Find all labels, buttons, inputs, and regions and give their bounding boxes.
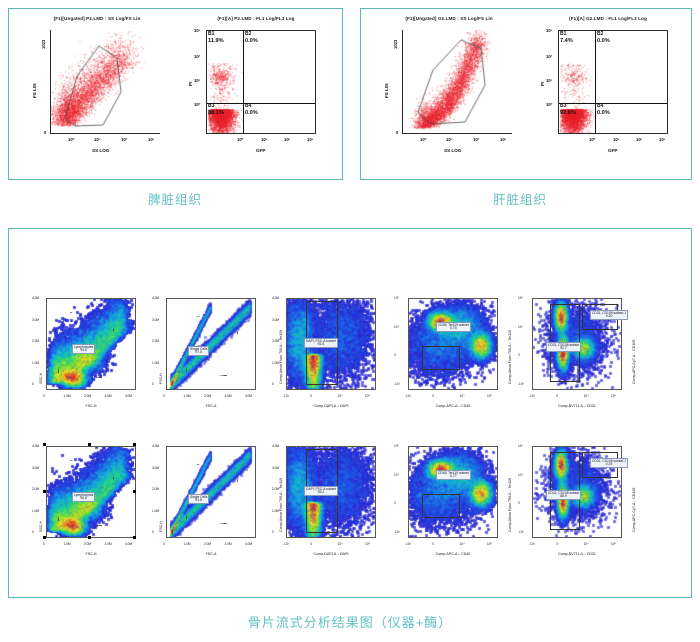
quadrant-name-b3: B3 bbox=[560, 103, 566, 109]
x-tick: 10² bbox=[121, 137, 127, 142]
quadrant-name-b4: B4 bbox=[245, 103, 251, 109]
x-tick: 1.0M bbox=[184, 542, 191, 546]
x-tick: 10² bbox=[636, 137, 642, 142]
density-plot-cd31-row2[interactable]: CD31, CD105 subset-10.25CD31, CD105 subs… bbox=[516, 440, 646, 565]
x-tick: 2.0M bbox=[84, 394, 91, 398]
y-tick: 10³ bbox=[194, 28, 200, 33]
plot-title: (F1)[A] P2.LMD : FL1 Log/FL3 Log bbox=[176, 16, 336, 21]
y-tick: 0 bbox=[32, 530, 34, 534]
x-tick: -10³ bbox=[405, 542, 411, 546]
x-tick: 10¹ bbox=[446, 137, 452, 142]
y-axis-label: SSC-H bbox=[39, 373, 43, 384]
x-tick: -10³ bbox=[283, 394, 289, 398]
x-tick: 10² bbox=[284, 137, 290, 142]
gate-label: Single Cells91.8 bbox=[188, 494, 209, 504]
selection-handle[interactable] bbox=[43, 443, 46, 446]
x-tick: 4.0M bbox=[125, 394, 132, 398]
y-tick: 4.0M bbox=[152, 296, 159, 300]
y-axis-label: FSC-H bbox=[159, 521, 163, 532]
x-tick: 0 bbox=[163, 394, 165, 398]
x-tick: 10⁵ bbox=[611, 394, 616, 398]
selection-handle[interactable] bbox=[43, 490, 46, 493]
x-tick: 2.0M bbox=[84, 542, 91, 546]
y-tick: 1.0M bbox=[32, 509, 39, 513]
plot-title: (F1)[Ungated] G2.LMD : SS Log/FS Lin bbox=[374, 16, 524, 21]
x-tick: -10³ bbox=[529, 542, 535, 546]
y-tick: 10⁵ bbox=[518, 444, 523, 448]
x-tick: 10⁴ bbox=[460, 542, 465, 546]
plot-area bbox=[206, 30, 316, 134]
y-tick: 10⁴ bbox=[518, 473, 523, 477]
x-tick: 10³ bbox=[148, 137, 154, 142]
selection-handle[interactable] bbox=[88, 536, 91, 539]
y-tick: 0 bbox=[518, 501, 520, 505]
x-tick: 0 bbox=[432, 542, 434, 546]
plot-area bbox=[558, 30, 668, 134]
gate-outline[interactable] bbox=[422, 346, 460, 370]
y-tick: 3.0M bbox=[32, 466, 39, 470]
quadrant-pct-b3: 88.1% bbox=[208, 110, 224, 116]
x-axis-label: SS LOG bbox=[92, 148, 109, 153]
x-tick: 4.0M bbox=[245, 542, 252, 546]
x-tick: 10⁰ bbox=[420, 137, 427, 142]
y-tick: 3.0M bbox=[32, 318, 39, 322]
gate-label: DAPI, FSC-A subset93.2 bbox=[304, 486, 338, 496]
y-axis-label: PI bbox=[540, 82, 545, 86]
y-tick: 4.0M bbox=[272, 296, 279, 300]
x-tick: 0 bbox=[310, 394, 312, 398]
y-tick: 0 bbox=[152, 382, 154, 386]
x-tick: 0 bbox=[310, 542, 312, 546]
y-tick: 0 bbox=[396, 130, 398, 135]
x-tick: 10¹ bbox=[261, 137, 267, 142]
density-plot-cd31-row1[interactable]: CD31, CD105 subset-10.20CD31, CD105 subs… bbox=[516, 292, 646, 417]
y-axis-label: FS LIN bbox=[384, 83, 389, 98]
x-axis-label: Comp-BV711-A :: CD31 bbox=[532, 552, 622, 556]
density-canvas bbox=[409, 299, 497, 389]
y-tick: 1.0M bbox=[152, 361, 159, 365]
y-tick: 0 bbox=[394, 353, 396, 357]
density-plot-singlecells-row1[interactable]: Single Cells97.6FSC-AFSC-H01.0M2.0M3.0M4… bbox=[150, 292, 254, 417]
gate-label: CD31, CD105 subset-10.20 bbox=[590, 310, 628, 320]
quadrant-name-b3: B3 bbox=[208, 103, 214, 109]
y-axis-label: Comp-Alexa Fluor 700-A :: Ter119 bbox=[508, 478, 512, 532]
y-tick: 10⁴ bbox=[394, 325, 399, 329]
caption-bone-flow: 骨片流式分析结果图（仪器+酶） bbox=[200, 612, 500, 631]
y-tick: 10² bbox=[194, 54, 200, 59]
gate-percent: 0.74 bbox=[438, 327, 469, 331]
gate-label: DAPI, FSC-A subset91.6 bbox=[304, 338, 338, 348]
plot-area bbox=[50, 30, 160, 134]
x-tick: 10⁴ bbox=[584, 394, 589, 398]
x-tick: -10³ bbox=[405, 394, 411, 398]
quadrant-pct-b4: 0.0% bbox=[245, 110, 258, 116]
gate-percent: 88.9 bbox=[548, 495, 579, 499]
x-tick: 0 bbox=[556, 542, 558, 546]
y-tick: 10⁰ bbox=[546, 102, 553, 107]
x-tick: 10⁰ bbox=[237, 137, 244, 142]
x-tick: 2.0M bbox=[204, 542, 211, 546]
selection-handle[interactable] bbox=[133, 536, 136, 539]
plot-area bbox=[402, 30, 512, 134]
y-tick: 10⁴ bbox=[394, 473, 399, 477]
y-tick: 2.0M bbox=[272, 339, 279, 343]
y-axis-label: Comp-Alexa Fluor 700-A :: Ter119 bbox=[279, 478, 283, 532]
y-tick: 3.0M bbox=[272, 318, 279, 322]
caption-spleen: 脾脏组织 bbox=[110, 189, 240, 208]
gate-percent: 0.77 bbox=[438, 475, 469, 479]
x-axis-label: Comp-DAPI-A :: DAPI bbox=[286, 552, 376, 556]
y-axis-label: PI bbox=[188, 82, 193, 86]
x-axis-label: FSC-H bbox=[46, 552, 136, 556]
selection-handle[interactable] bbox=[133, 490, 136, 493]
y-tick: 0 bbox=[32, 382, 34, 386]
density-plot-singlecells-row2[interactable]: Single Cells91.8FSC-AFSC-H01.0M2.0M3.0M4… bbox=[150, 440, 254, 565]
x-axis-label: Comp-APC-A :: CD45 bbox=[408, 552, 498, 556]
x-axis-label: SS LOG bbox=[444, 148, 461, 153]
gate-percent: 0.25 bbox=[592, 463, 626, 467]
x-tick: -10³ bbox=[283, 542, 289, 546]
plot-area bbox=[408, 298, 498, 390]
density-plot-lympho-row1[interactable]: Lymphocytes93.6FSC-HSSC-H01.0M2.0M3.0M4.… bbox=[30, 292, 138, 417]
x-axis-label: Comp-BV711-A :: CD31 bbox=[532, 404, 622, 408]
density-plot-dapi-row2[interactable]: DAPI, FSC-A subset93.2Comp-DAPI-A :: DAP… bbox=[270, 440, 374, 565]
gate-label: Lymphocytes93.6 bbox=[72, 344, 95, 354]
y-tick: -10³ bbox=[394, 382, 400, 386]
x-tick: 2.0M bbox=[204, 394, 211, 398]
x-tick: 10⁵ bbox=[487, 542, 492, 546]
y-tick: 2.0M bbox=[32, 339, 39, 343]
selection-handle[interactable] bbox=[43, 536, 46, 539]
quadrant-name-b2: B2 bbox=[597, 31, 603, 37]
quadrant-name-b2: B2 bbox=[245, 31, 251, 37]
quadrant-pct-b1: 7.4% bbox=[560, 38, 573, 44]
quadrant-vline bbox=[595, 31, 596, 134]
x-tick: 0 bbox=[556, 394, 558, 398]
gate-label: CD31, CD105 subset92.7 bbox=[546, 342, 581, 352]
quadrant-pct-b3: 92.6% bbox=[560, 110, 576, 116]
x-axis-label: GFP bbox=[256, 148, 265, 153]
gate-percent: 92.7 bbox=[548, 347, 579, 351]
gate-label: Single Cells97.6 bbox=[188, 346, 209, 356]
y-tick: 3.0M bbox=[272, 466, 279, 470]
y-tick: 0 bbox=[272, 382, 274, 386]
quadrant-pct-b2: 0.0% bbox=[245, 38, 258, 44]
y-tick: 1.0M bbox=[272, 509, 279, 513]
y-tick: 4.0M bbox=[32, 296, 39, 300]
gate-percent: 93.2 bbox=[306, 491, 336, 495]
density-plot-cd45-row1[interactable]: CD45, Ter119 subset0.74Comp-APC-A :: CD4… bbox=[392, 292, 496, 417]
y-axis-label: FS LIN bbox=[32, 83, 37, 98]
selection-handle[interactable] bbox=[133, 443, 136, 446]
y-axis-label: FSC-H bbox=[159, 373, 163, 384]
y-tick: 0 bbox=[44, 130, 46, 135]
quadrant-name-b1: B1 bbox=[560, 31, 566, 37]
x-axis-label: FSC-H bbox=[46, 404, 136, 408]
y-tick: -10³ bbox=[394, 530, 400, 534]
x-tick: 1.0M bbox=[64, 394, 71, 398]
y-tick: 1.0M bbox=[272, 361, 279, 365]
y-tick: 4.0M bbox=[32, 444, 39, 448]
x-tick: 10⁵ bbox=[365, 542, 370, 546]
y-axis-label: Comp-APC-Cy7-A :: CD105 bbox=[632, 340, 636, 384]
plot-title: (F1)[A] G2.LMD : FL1 Log/FL3 Log bbox=[528, 16, 688, 21]
plot-area bbox=[408, 446, 498, 538]
x-tick: 10² bbox=[473, 137, 479, 142]
x-tick: 10¹ bbox=[94, 137, 100, 142]
density-plot-cd45-row2[interactable]: CD45, Ter119 subset0.77Comp-APC-A :: CD4… bbox=[392, 440, 496, 565]
x-axis-label: FSC-A bbox=[166, 552, 256, 556]
x-tick: 10³ bbox=[307, 137, 313, 142]
x-tick: 4.0M bbox=[125, 542, 132, 546]
x-tick: 10¹ bbox=[613, 137, 619, 142]
x-tick: 1.0M bbox=[184, 394, 191, 398]
y-tick: 10⁵ bbox=[394, 296, 399, 300]
x-axis-label: Comp-APC-A :: CD45 bbox=[408, 404, 498, 408]
y-tick: 3.0M bbox=[152, 466, 159, 470]
x-tick: 10⁴ bbox=[460, 394, 465, 398]
quadrant-pct-b4: 0.0% bbox=[597, 110, 610, 116]
x-tick: 10⁵ bbox=[611, 542, 616, 546]
y-tick: 10⁵ bbox=[518, 296, 523, 300]
y-tick: 10⁵ bbox=[394, 444, 399, 448]
gate-outline[interactable] bbox=[422, 494, 460, 518]
density-plot-dapi-row1[interactable]: DAPI, FSC-A subset91.6Comp-DAPI-A :: DAP… bbox=[270, 292, 374, 417]
x-tick: 0 bbox=[163, 542, 165, 546]
quadrant-vline bbox=[243, 31, 244, 134]
y-tick: 2.0M bbox=[272, 487, 279, 491]
x-axis-label: GFP bbox=[608, 148, 617, 153]
quadrant-name-b1: B1 bbox=[208, 31, 214, 37]
y-tick: 10² bbox=[546, 54, 552, 59]
y-tick: 1.0M bbox=[152, 509, 159, 513]
gate-label: CD45, Ter119 subset0.74 bbox=[436, 322, 471, 332]
gate-label: CD45, Ter119 subset0.77 bbox=[436, 470, 471, 480]
gate-label: CD31, CD105 subset88.9 bbox=[546, 490, 581, 500]
quadrant-hline bbox=[559, 103, 668, 104]
caption-liver: 肝脏组织 bbox=[455, 189, 585, 208]
x-tick: -10³ bbox=[529, 394, 535, 398]
x-tick: 1.0M bbox=[64, 542, 71, 546]
quadrant-pct-b1: 11.9% bbox=[208, 38, 224, 44]
y-tick: 10⁰ bbox=[194, 102, 201, 107]
plot-liver-ss-fs: (F1)[Ungated] G2.LMD : SS Log/FS Lin FS … bbox=[374, 16, 524, 166]
plot-spleen-fl1-fl3: (F1)[A] P2.LMD : FL1 Log/FL3 Log B1 11.9… bbox=[176, 16, 336, 166]
selection-handle[interactable] bbox=[88, 443, 91, 446]
y-axis-label: SSC-H bbox=[39, 521, 43, 532]
density-plot-lympho-row2[interactable]: Lymphocytes90.6FSC-HSSC-H01.0M2.0M3.0M4.… bbox=[30, 440, 138, 565]
y-tick: 2.0M bbox=[152, 487, 159, 491]
density-canvas bbox=[409, 447, 497, 537]
y-tick: 1.0M bbox=[32, 361, 39, 365]
x-tick: 10⁵ bbox=[487, 394, 492, 398]
scatter-canvas bbox=[403, 30, 512, 134]
x-tick: 10⁴ bbox=[338, 542, 343, 546]
y-tick: 4.0M bbox=[272, 444, 279, 448]
x-axis-label: Comp-DAPI-A :: DAPI bbox=[286, 404, 376, 408]
x-tick: 10³ bbox=[659, 137, 665, 142]
gate-percent: 91.6 bbox=[306, 343, 336, 347]
x-tick: 3.0M bbox=[105, 394, 112, 398]
x-tick: 10³ bbox=[500, 137, 506, 142]
x-tick: 4.0M bbox=[245, 394, 252, 398]
x-axis-label: FSC-A bbox=[166, 404, 256, 408]
gate-percent: 91.8 bbox=[190, 499, 207, 503]
x-tick: 3.0M bbox=[225, 542, 232, 546]
quadrant-hline bbox=[207, 103, 316, 104]
gate-label: Lymphocytes90.6 bbox=[72, 492, 95, 502]
gate-percent: 0.20 bbox=[592, 315, 626, 319]
y-tick: 0 bbox=[152, 530, 154, 534]
y-tick: 10¹ bbox=[194, 78, 200, 83]
x-tick: 10⁰ bbox=[68, 137, 75, 142]
y-tick: -10³ bbox=[518, 382, 524, 386]
y-axis-label: Comp-APC-Cy7-A :: CD105 bbox=[632, 488, 636, 532]
y-tick: 0 bbox=[272, 530, 274, 534]
scatter-canvas bbox=[559, 31, 668, 134]
plot-title: (F1)[Ungated] P2.LMD : SS Log/FS Lin bbox=[22, 16, 172, 21]
y-tick: 2.0M bbox=[152, 339, 159, 343]
x-tick: 3.0M bbox=[225, 394, 232, 398]
plot-liver-fl1-fl3: (F1)[A] G2.LMD : FL1 Log/FL3 Log B1 7.4%… bbox=[528, 16, 688, 166]
x-tick: 10⁵ bbox=[365, 394, 370, 398]
y-tick: 0 bbox=[394, 501, 396, 505]
gate-percent: 93.6 bbox=[74, 349, 93, 353]
y-axis-label: Comp-Alexa Fluor 700-A :: Ter119 bbox=[508, 330, 512, 384]
gate-label: CD31, CD105 subset-10.25 bbox=[590, 458, 628, 468]
y-tick: 10¹ bbox=[546, 78, 552, 83]
scatter-canvas bbox=[207, 31, 316, 134]
x-tick: 0 bbox=[43, 542, 45, 546]
x-tick: 0 bbox=[43, 394, 45, 398]
scatter-canvas bbox=[51, 30, 160, 134]
gate-percent: 97.6 bbox=[190, 351, 207, 355]
x-tick: 10⁴ bbox=[338, 394, 343, 398]
gate-percent: 90.6 bbox=[74, 497, 93, 501]
y-tick: 10³ bbox=[546, 28, 552, 33]
x-tick: 10⁴ bbox=[584, 542, 589, 546]
y-tick: 4.0M bbox=[152, 444, 159, 448]
x-tick: 0 bbox=[432, 394, 434, 398]
y-tick: 1023 bbox=[393, 40, 398, 49]
x-tick: 3.0M bbox=[105, 542, 112, 546]
y-tick: 3.0M bbox=[152, 318, 159, 322]
plot-spleen-ss-fs: (F1)[Ungated] P2.LMD : SS Log/FS Lin FS … bbox=[22, 16, 172, 166]
y-tick: -10³ bbox=[518, 530, 524, 534]
y-axis-label: Comp-Alexa Fluor 700-A :: Ter119 bbox=[279, 330, 283, 384]
y-tick: 1023 bbox=[41, 40, 46, 49]
y-tick: 10⁴ bbox=[518, 325, 523, 329]
y-tick: 0 bbox=[518, 353, 520, 357]
quadrant-name-b4: B4 bbox=[597, 103, 603, 109]
y-tick: 2.0M bbox=[32, 487, 39, 491]
x-tick: 10⁰ bbox=[589, 137, 596, 142]
quadrant-pct-b2: 0.0% bbox=[597, 38, 610, 44]
